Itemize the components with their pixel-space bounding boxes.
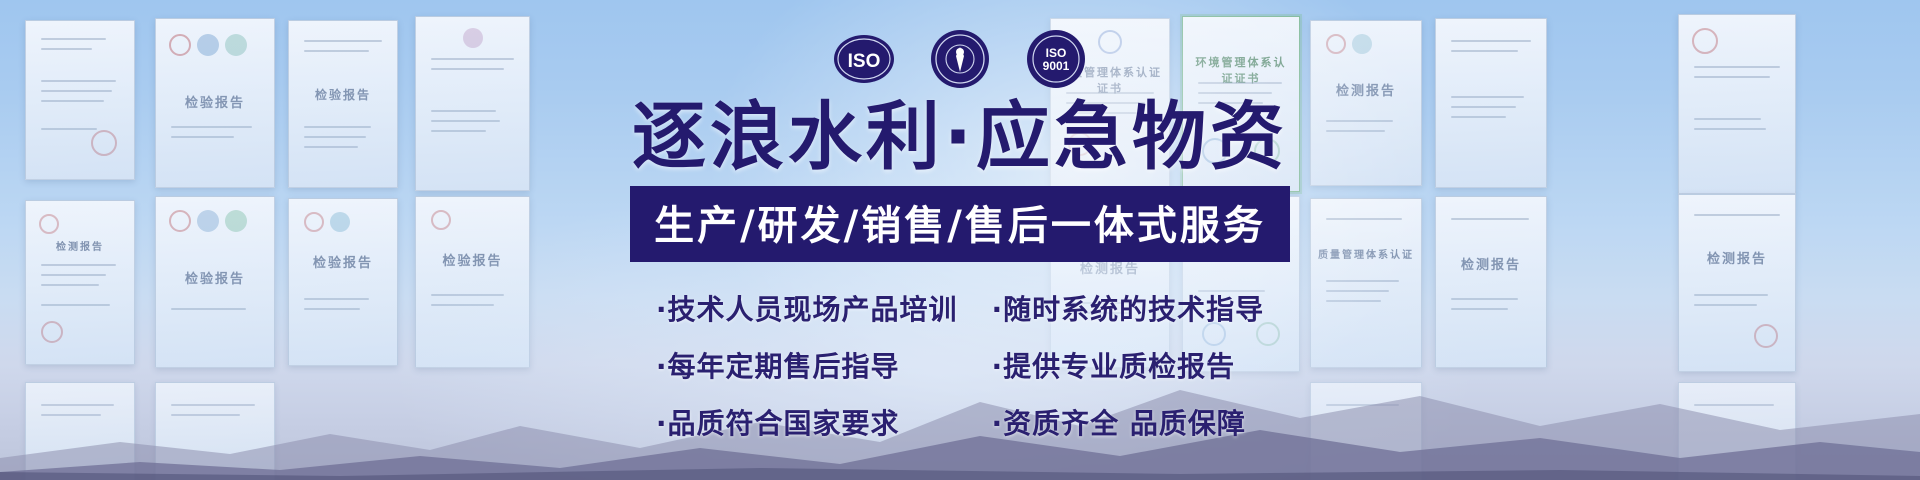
service-subtitle-bar: 生产/研发/销售/售后一体式服务 — [630, 186, 1290, 262]
svg-text:ISO: ISO — [848, 51, 881, 72]
feature-item: ·资质齐全 品质保障 — [992, 402, 1265, 442]
feature-list: ·技术人员现场产品培训 ·随时系统的技术指导 ·每年定期售后指导 ·提供专业质检… — [656, 288, 1264, 442]
svg-text:9001: 9001 — [1043, 59, 1070, 73]
feature-item: ·随时系统的技术指导 — [992, 288, 1265, 328]
banner-content: ISO ISO 9001 — [0, 0, 1920, 480]
feature-item: ·品质符合国家要求 — [656, 402, 958, 442]
promo-banner: 检验报告 检验报告 — [0, 0, 1920, 480]
feature-item: ·提供专业质检报告 — [992, 345, 1265, 385]
quality-seal-badge — [929, 28, 991, 90]
feature-item: ·每年定期售后指导 — [656, 345, 958, 385]
page-title: 逐浪水利·应急物资 — [632, 98, 1288, 176]
iso9001-badge: ISO 9001 — [1025, 28, 1087, 90]
certification-badges: ISO ISO 9001 — [833, 28, 1087, 90]
svg-text:ISO: ISO — [1046, 46, 1067, 60]
iso-badge: ISO — [833, 28, 895, 90]
feature-item: ·技术人员现场产品培训 — [656, 288, 958, 328]
